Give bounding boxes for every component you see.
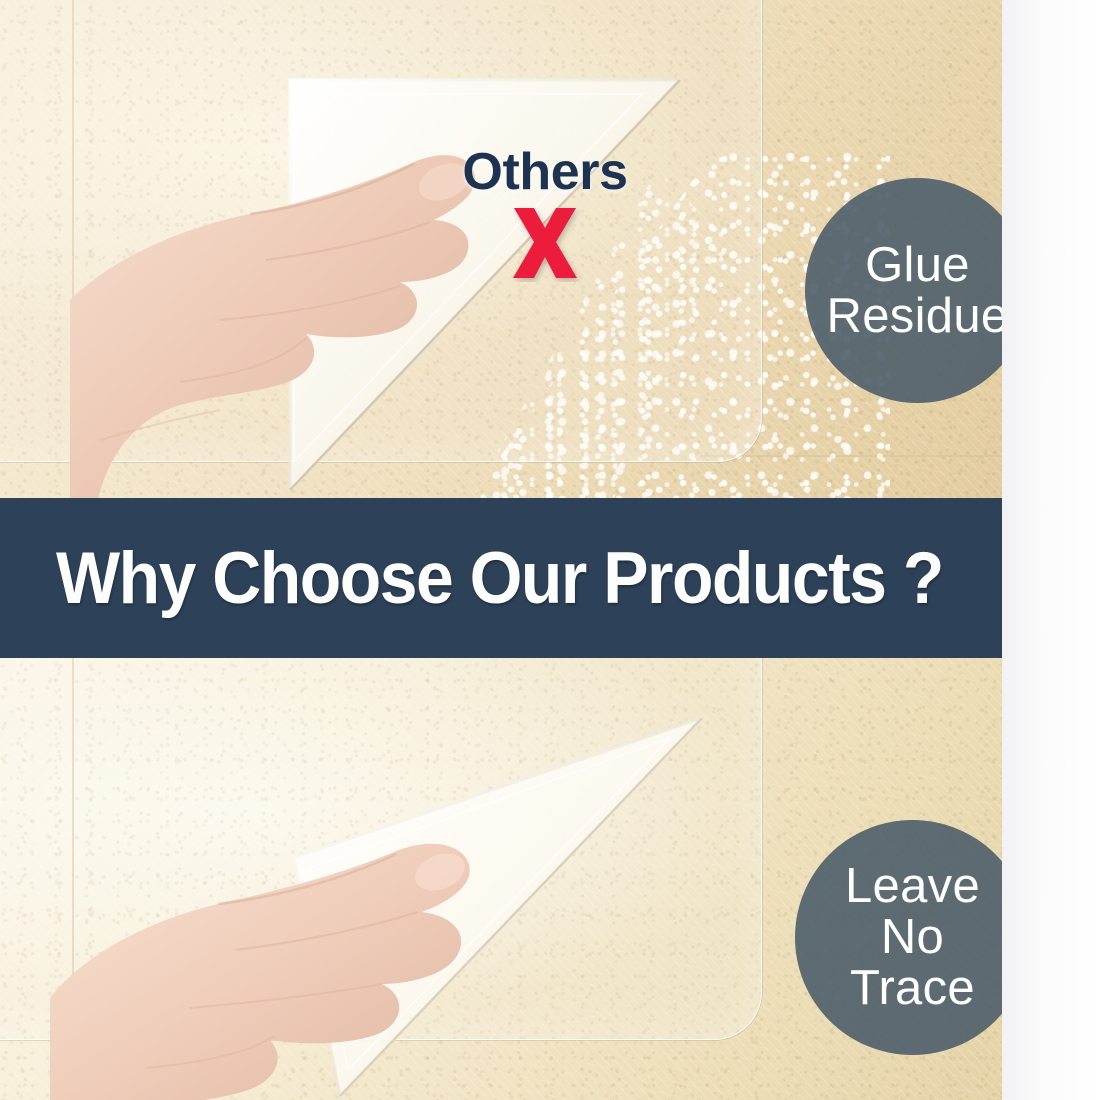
why-choose-banner: Why Choose Our Products ? (0, 498, 1100, 658)
photo-panel-others: Others Glue Residue (0, 0, 1002, 500)
verdict-others: Others (430, 142, 660, 282)
right-margin-strip (1002, 0, 1100, 1100)
badge-line-1: Glue (817, 240, 1002, 291)
badge-line-1: Leave (805, 861, 1002, 912)
badge-leave-no-trace-text: Leave No Trace (795, 861, 1002, 1014)
banner-content: Why Choose Our Products ? (0, 530, 1100, 626)
banner-title: Why Choose Our Products ? (56, 537, 943, 620)
hand-peeling-film-top (70, 110, 490, 500)
others-label: Others (430, 142, 660, 202)
product-comparison-infographic: Others Glue Residue (0, 0, 1100, 1100)
badge-line-2: No Trace (805, 912, 1002, 1014)
red-x-icon (430, 204, 660, 282)
hand-peeling-film-bottom (50, 808, 490, 1100)
photo-panel-ours: Ours Leave No Trace (0, 658, 1002, 1100)
badge-glue-residue-text: Glue Residue (807, 240, 1002, 342)
badge-line-2: Residue (817, 291, 1002, 342)
